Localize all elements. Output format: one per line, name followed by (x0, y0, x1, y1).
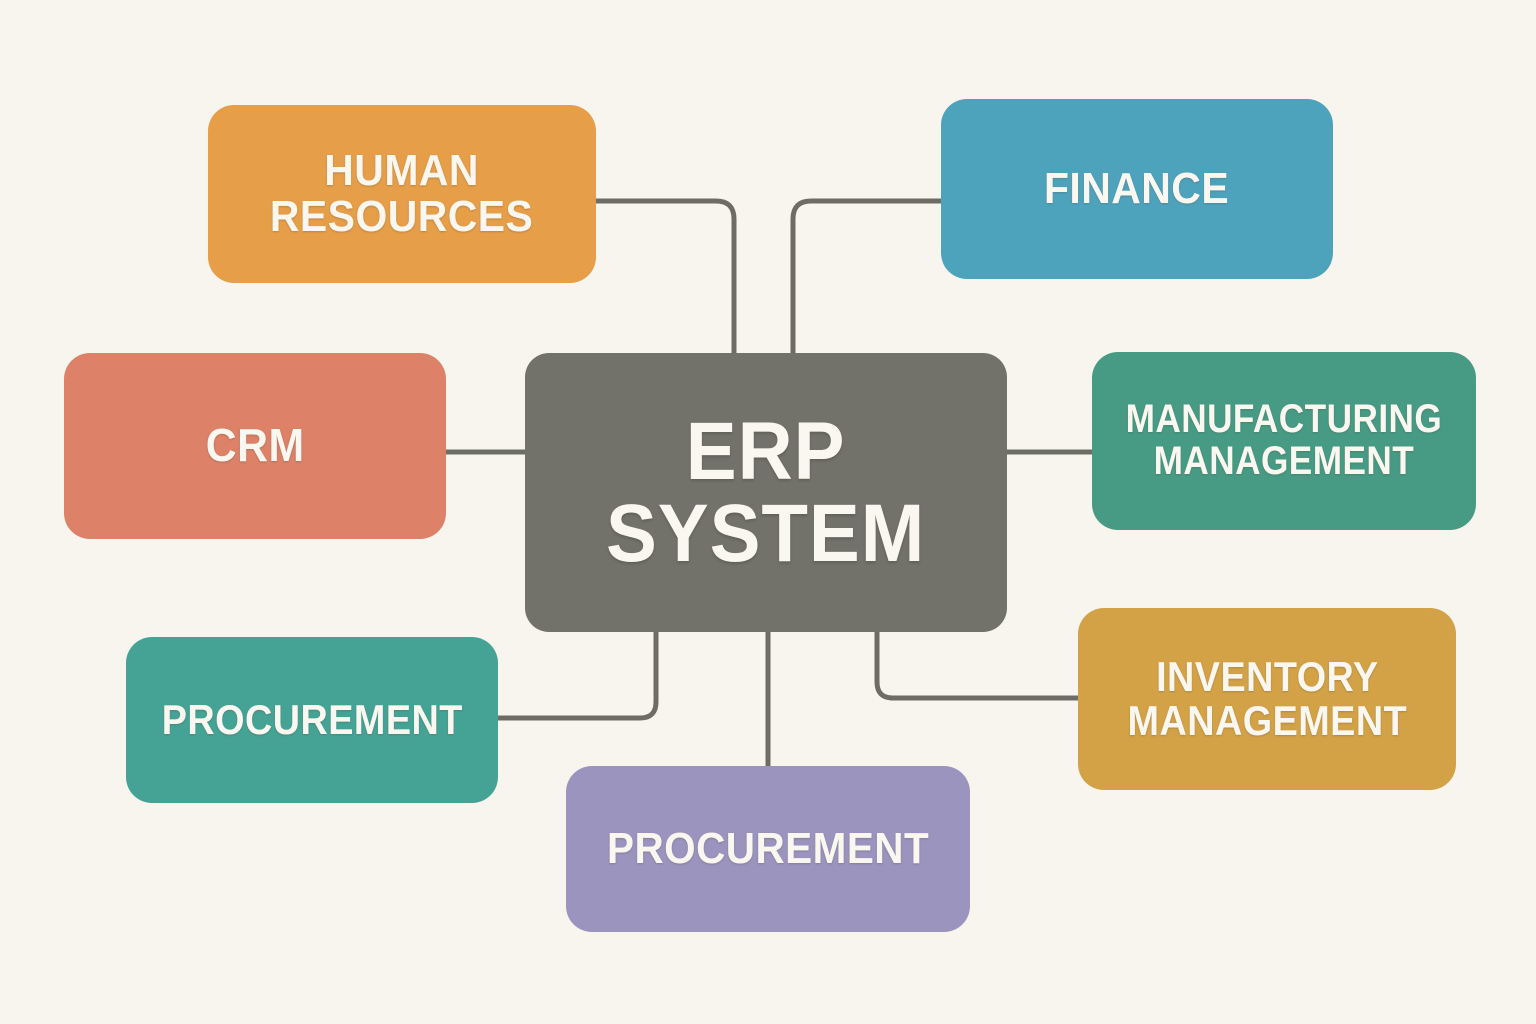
erp-diagram-canvas: HUMAN RESOURCESFINANCECRMMANUFACTURING M… (0, 0, 1536, 1024)
node-label-procurement-left: PROCUREMENT (161, 698, 462, 742)
node-procurement-bottom[interactable]: PROCUREMENT (566, 766, 970, 932)
connector-human-resources-to-erp (596, 201, 734, 353)
node-label-erp: ERP SYSTEM (606, 411, 925, 575)
node-erp[interactable]: ERP SYSTEM (525, 353, 1007, 632)
node-label-inventory-management: INVENTORY MANAGEMENT (1127, 655, 1407, 742)
node-finance[interactable]: FINANCE (941, 99, 1333, 279)
connector-finance-to-erp (793, 201, 941, 353)
node-crm[interactable]: CRM (64, 353, 446, 539)
node-label-human-resources: HUMAN RESOURCES (270, 148, 533, 240)
node-label-procurement-bottom: PROCUREMENT (607, 826, 929, 872)
node-procurement-left[interactable]: PROCUREMENT (126, 637, 498, 803)
node-label-finance: FINANCE (1044, 166, 1229, 212)
node-label-manufacturing-management: MANUFACTURING MANAGEMENT (1126, 399, 1443, 482)
node-manufacturing-management[interactable]: MANUFACTURING MANAGEMENT (1092, 352, 1476, 530)
node-label-crm: CRM (206, 422, 305, 470)
connector-inventory-management-to-erp (877, 632, 1078, 698)
node-inventory-management[interactable]: INVENTORY MANAGEMENT (1078, 608, 1456, 790)
connector-procurement-left-to-erp (498, 632, 656, 718)
node-human-resources[interactable]: HUMAN RESOURCES (208, 105, 596, 283)
